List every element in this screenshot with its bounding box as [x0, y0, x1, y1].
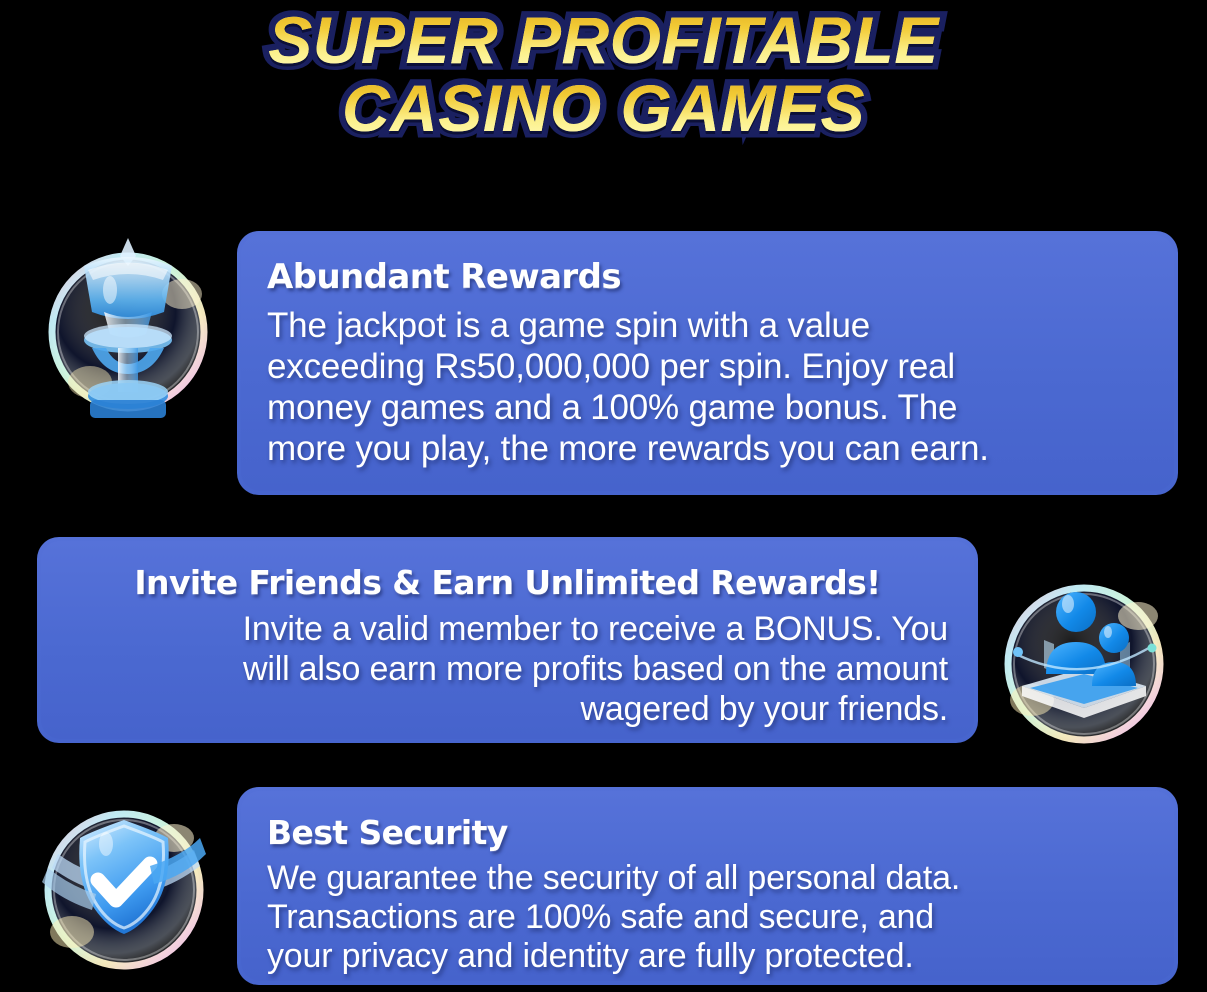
- title-line-2: CASINO GAMES: [0, 74, 1207, 142]
- trophy-bubble-icon: [32, 232, 224, 424]
- card-heading: Best Security: [267, 813, 1148, 853]
- card-heading: Abundant Rewards: [267, 257, 1148, 297]
- users-bubble-icon: [988, 568, 1180, 760]
- card-abundant-rewards[interactable]: Abundant Rewards The jackpot is a game s…: [237, 231, 1178, 495]
- card-invite-friends[interactable]: Invite Friends & Earn Unlimited Rewards!…: [37, 537, 978, 743]
- card-body: Invite a valid member to receive a BONUS…: [67, 609, 948, 729]
- page-title: SUPER PROFITABLE SUPER PROFITABLE CASINO…: [0, 6, 1207, 142]
- shield-check-bubble-icon: [28, 792, 220, 984]
- card-best-security[interactable]: Best Security We guarantee the security …: [237, 787, 1178, 985]
- promo-banner: SUPER PROFITABLE SUPER PROFITABLE CASINO…: [0, 0, 1207, 992]
- card-heading: Invite Friends & Earn Unlimited Rewards!: [67, 563, 948, 603]
- card-body: We guarantee the security of all persona…: [267, 859, 1148, 976]
- card-body: The jackpot is a game spin with a value …: [267, 305, 1148, 469]
- title-line-1: SUPER PROFITABLE: [0, 6, 1207, 74]
